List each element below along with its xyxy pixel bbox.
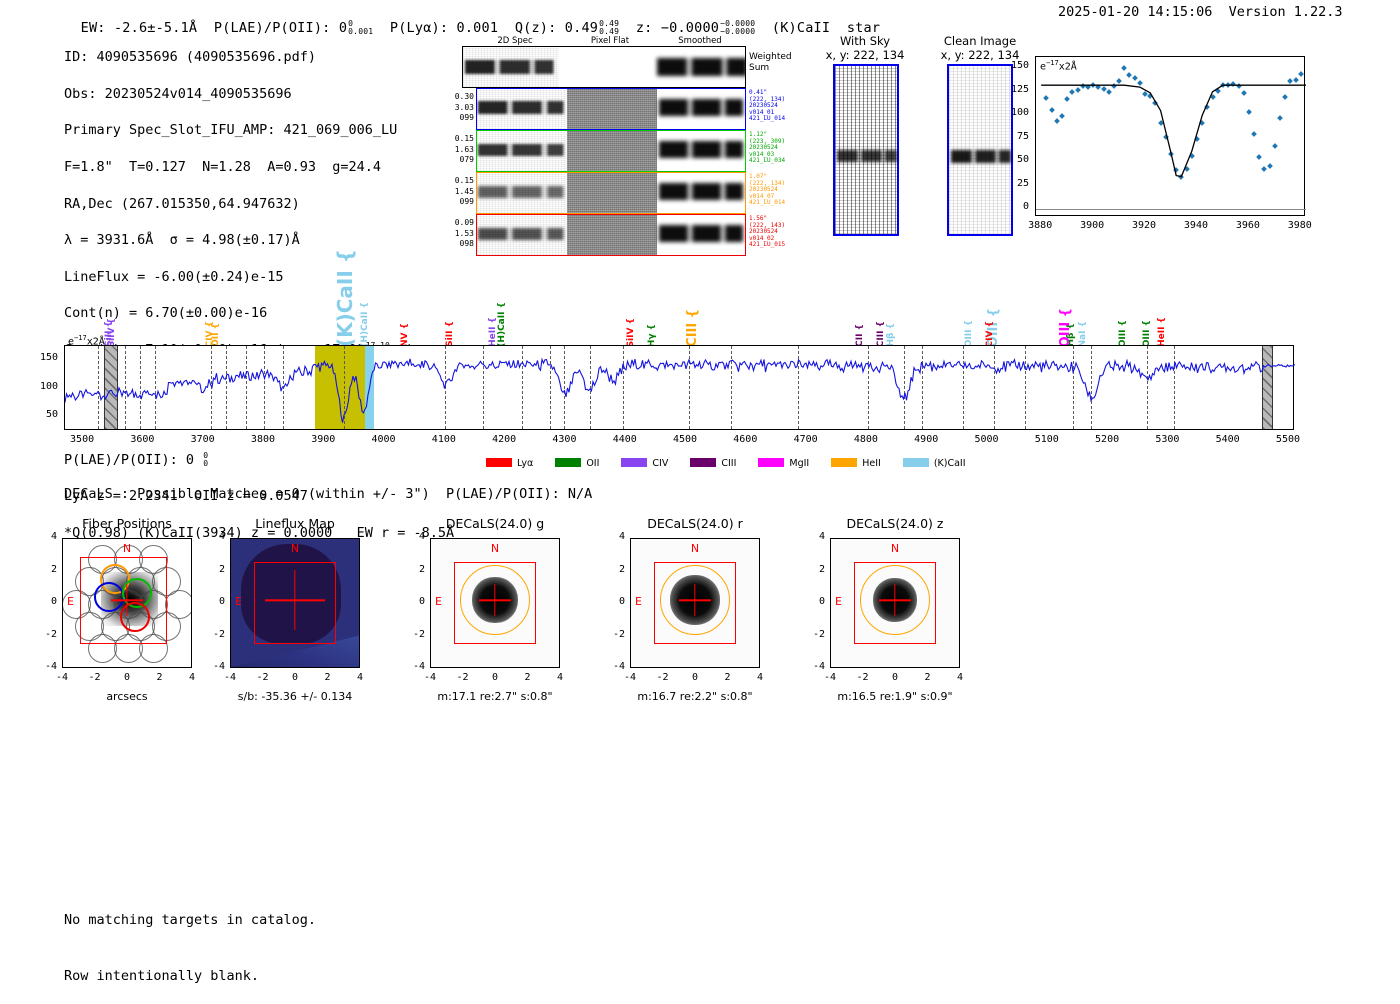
x-tick-label: 5400: [1202, 434, 1254, 445]
emission-line-label: CII {: [855, 324, 865, 347]
x-tick-label: 2: [512, 672, 544, 683]
spectrum-flux-curve: [65, 346, 1295, 431]
info-line-obs: Obs: 20230524v014_4090535696: [64, 85, 454, 103]
x-tick-label: 3800: [237, 434, 289, 445]
cutout-weighted-sum-row: [462, 46, 746, 88]
info-line-primary-spec: Primary Spec_Slot_IFU_AMP: 421_069_006_L…: [64, 121, 454, 139]
y-tick-label: -2: [798, 629, 825, 640]
y-tick-label: -2: [398, 629, 425, 640]
legend-swatch: [621, 458, 647, 467]
decals-panel-caption: m:17.1 re:2.7" s:0.8": [395, 690, 595, 703]
emission-line-label: CIV {: [985, 321, 995, 347]
info-line-lambda: λ = 3931.6Å σ = 4.98(±0.17)Å: [64, 231, 454, 249]
legend-swatch: [903, 458, 929, 467]
y-tick-label: -4: [30, 661, 57, 672]
x-tick-label: 5300: [1141, 434, 1193, 445]
x-tick-label: -2: [647, 672, 679, 683]
crosshair-vertical: [494, 584, 495, 616]
cutout-row-3-sidelabel: 1.56" (222, 143) 20230524 v014_02 421_LU…: [749, 216, 785, 249]
x-tick-label: 4300: [538, 434, 590, 445]
legend-label: HeII: [862, 458, 881, 469]
footer-messages: No matching targets in catalog. Row inte…: [64, 874, 316, 1004]
x-tick-label: 3500: [56, 434, 108, 445]
emission-line-label: SiII {: [445, 321, 455, 347]
legend-swatch: [690, 458, 716, 467]
y-tick-label: 75: [995, 131, 1029, 142]
x-tick-label: 4200: [478, 434, 530, 445]
decals-panel-axes[interactable]: NE: [630, 538, 760, 668]
y-tick-label: -4: [798, 661, 825, 672]
x-tick-label: 5100: [1021, 434, 1073, 445]
x-tick-label: 5000: [961, 434, 1013, 445]
header-qz-label: Q(z):: [515, 20, 557, 36]
legend-label: MgII: [789, 458, 809, 469]
legend-label: (K)CaII: [934, 458, 966, 469]
spectrum-units: e−17x2Å: [68, 334, 105, 347]
info-line-plae: P(LAE)/P(OII): 0 00: [64, 451, 454, 469]
x-tick-label: 4100: [418, 434, 470, 445]
compass-north: N: [123, 542, 131, 555]
emission-line-label: (H)CaII {: [360, 302, 370, 347]
emission-line-label: SiII {: [104, 321, 114, 347]
emission-line-label: (H)CaII {: [497, 302, 507, 347]
y-tick-label: -4: [598, 661, 625, 672]
spectrum-emission-labels: SiIV {SiII {CIV {OII {(K)CaII {(H)CaII {…: [64, 262, 1294, 347]
x-tick-label: 3980: [1276, 220, 1324, 231]
x-tick-label: 4: [744, 672, 776, 683]
info-line-radec: RA,Dec (267.015350,64.947632): [64, 195, 454, 213]
compass-east: E: [435, 595, 442, 608]
x-tick-label: -4: [814, 672, 846, 683]
y-tick-label: 2: [598, 564, 625, 575]
x-tick-label: 4600: [719, 434, 771, 445]
weighted-sum-label: Weighted Sum: [749, 52, 792, 74]
compass-north: N: [291, 542, 299, 555]
emission-line-label: Hβ {: [886, 323, 896, 347]
y-tick-label: 0: [598, 596, 625, 607]
y-tick-label: 50: [22, 409, 58, 420]
footer-line-1: No matching targets in catalog.: [64, 911, 316, 930]
decals-panel-row: Fiber PositionsNE-4-4-2-2002244arcsecsLi…: [0, 510, 1400, 720]
with-sky-image: [833, 64, 899, 236]
x-tick-label: 3900: [297, 434, 349, 445]
y-tick-label: 2: [198, 564, 225, 575]
footer-line-2: Row intentionally blank.: [64, 967, 316, 986]
legend-swatch: [831, 458, 857, 467]
header-z-label: z:: [636, 20, 653, 36]
legend-item: (K)CaII: [903, 458, 966, 469]
y-tick-label: 25: [995, 178, 1029, 189]
legend-label: CIII: [721, 458, 736, 469]
emission-line-label: CIII {: [685, 309, 700, 347]
x-tick-label: 4: [944, 672, 976, 683]
y-tick-label: 4: [30, 531, 57, 542]
emission-line-label: NaI {: [1078, 321, 1088, 348]
emission-line-label: OIII {: [1142, 320, 1152, 347]
x-tick-label: 3880: [1016, 220, 1064, 231]
y-tick-label: 50: [995, 154, 1029, 165]
legend-swatch: [486, 458, 512, 467]
y-tick-label: 0: [995, 201, 1029, 212]
legend-label: OII: [586, 458, 599, 469]
crosshair-vertical: [894, 584, 895, 616]
compass-north: N: [491, 542, 499, 555]
x-tick-label: 0: [679, 672, 711, 683]
decals-panel-title: Fiber Positions: [44, 516, 210, 531]
x-tick-label: -2: [247, 672, 279, 683]
info-line-id: ID: 4090535696 (4090535696.pdf): [64, 48, 454, 66]
x-tick-label: -2: [447, 672, 479, 683]
cutout-row-1-leftlabel: 0.15 1.63 079: [440, 134, 474, 166]
x-tick-label: 4: [344, 672, 376, 683]
legend-item: HeII: [831, 458, 881, 469]
legend-item: OII: [555, 458, 599, 469]
x-tick-label: 4400: [599, 434, 651, 445]
header-qz-lo: 0.49: [599, 27, 619, 36]
y-tick-label: -4: [198, 661, 225, 672]
y-tick-label: -4: [398, 661, 425, 672]
x-tick-label: 4700: [780, 434, 832, 445]
x-tick-label: -4: [46, 672, 78, 683]
decals-panel-title: Lineflux Map: [212, 516, 378, 531]
y-tick-label: 2: [30, 564, 57, 575]
header-plya-value: 0.001: [457, 20, 499, 36]
x-tick-label: 4800: [840, 434, 892, 445]
y-tick-label: 0: [798, 596, 825, 607]
x-tick-label: 3960: [1224, 220, 1272, 231]
decals-panel-axes[interactable]: NE: [830, 538, 960, 668]
x-tick-label: 4500: [659, 434, 711, 445]
x-tick-label: -4: [414, 672, 446, 683]
compass-east: E: [635, 595, 642, 608]
legend-item: CIV: [621, 458, 668, 469]
decals-panel-caption: s/b: -35.36 +/- 0.134: [195, 690, 395, 703]
crosshair-vertical: [694, 584, 695, 616]
compass-north: N: [691, 542, 699, 555]
x-tick-label: 4900: [900, 434, 952, 445]
cutout-row-2-leftlabel: 0.15 1.45 099: [440, 176, 474, 208]
y-tick-label: 0: [398, 596, 425, 607]
x-tick-label: 0: [279, 672, 311, 683]
x-tick-label: 3920: [1120, 220, 1168, 231]
y-tick-label: -2: [30, 629, 57, 640]
cutout-col-title-smoothed: Smoothed: [655, 36, 745, 46]
full-spectrum-plot: e−17x2Å: [64, 345, 1294, 430]
info-plae-label: P(LAE)/P(OII): 0: [64, 452, 194, 468]
info-plae-lo: 0: [203, 459, 208, 468]
y-tick-label: 2: [798, 564, 825, 575]
decals-panel-title: DECaLS(24.0) r: [612, 516, 778, 531]
legend-swatch: [758, 458, 784, 467]
emission-line-label: Hγ {: [647, 324, 657, 347]
legend-label: Lyα: [517, 458, 533, 469]
legend-item: MgII: [758, 458, 809, 469]
emission-line-label: HeII {: [1157, 317, 1167, 347]
cutout-row-2: [476, 172, 746, 214]
compass-east: E: [67, 595, 74, 608]
emission-line-label: (K)CaII {: [333, 249, 357, 347]
cutout-row-2-sidelabel: 1.07" (222, 134) 20230524 v014_07 421_LU…: [749, 174, 785, 207]
decals-panel-caption: m:16.7 re:2.2" s:0.8": [595, 690, 795, 703]
decals-panel-title: DECaLS(24.0) g: [412, 516, 578, 531]
info-line-fwhm: F=1.8" T=0.127 N=1.28 A=0.93 g=24.4: [64, 158, 454, 176]
x-tick-label: 2: [312, 672, 344, 683]
x-tick-label: 5500: [1262, 434, 1314, 445]
x-tick-label: -2: [79, 672, 111, 683]
x-tick-label: 5200: [1081, 434, 1133, 445]
crosshair-vertical: [294, 570, 295, 630]
decals-panel-caption: m:16.5 re:1.9" s:0.9": [795, 690, 995, 703]
legend-label: CIV: [652, 458, 668, 469]
x-tick-label: 3700: [177, 434, 229, 445]
x-tick-label: -4: [214, 672, 246, 683]
header-z-value: −0.0000: [661, 20, 719, 36]
with-sky-coords: x, y: 222, 134: [812, 48, 918, 62]
cutout-row-3: [476, 214, 746, 256]
cutout-row-3-leftlabel: 0.09 1.53 098: [440, 218, 474, 250]
decals-panel-title: DECaLS(24.0) z: [812, 516, 978, 531]
line-profile-plot: e−17x2Å: [1035, 56, 1305, 216]
emission-line-label: OII {: [211, 323, 221, 347]
timestamp-version: 2025-01-20 14:15:06 Version 1.22.3: [1058, 4, 1342, 20]
cutout-row-1: [476, 130, 746, 172]
y-tick-label: 100: [995, 107, 1029, 118]
x-tick-label: 3600: [116, 434, 168, 445]
x-tick-label: -4: [614, 672, 646, 683]
y-tick-label: 0: [30, 596, 57, 607]
x-tick-label: 0: [111, 672, 143, 683]
legend-item: Lyα: [486, 458, 533, 469]
decals-panel-axes[interactable]: NE: [62, 538, 192, 668]
x-tick-label: 0: [879, 672, 911, 683]
cutout-row-0-sidelabel: 0.41" (222, 134) 20230524 v014_01 421_LU…: [749, 90, 785, 123]
x-tick-label: 4000: [358, 434, 410, 445]
y-tick-label: -2: [598, 629, 625, 640]
decals-panel-axes[interactable]: NE: [230, 538, 360, 668]
compass-north: N: [891, 542, 899, 555]
x-tick-label: 2: [144, 672, 176, 683]
y-tick-label: 150: [22, 352, 58, 363]
x-tick-label: 0: [479, 672, 511, 683]
cutout-row-1-sidelabel: 1.12" (223, 309) 20230524 v014_03 421_LU…: [749, 132, 785, 165]
header-z-lo: −0.0000: [720, 27, 755, 36]
cutout-col-title-pixelflat: Pixel Flat: [565, 36, 655, 46]
with-sky-title: With Sky: [812, 34, 918, 48]
x-tick-label: 3900: [1068, 220, 1116, 231]
y-tick-label: -2: [198, 629, 225, 640]
y-tick-label: 2: [398, 564, 425, 575]
legend-swatch: [555, 458, 581, 467]
y-tick-label: 4: [798, 531, 825, 542]
legend-item: CIII: [690, 458, 736, 469]
y-tick-label: 4: [198, 531, 225, 542]
emission-line-label: OIII {: [1118, 320, 1128, 347]
compass-east: E: [835, 595, 842, 608]
y-tick-label: 4: [598, 531, 625, 542]
cutout-col-title-2dspec: 2D Spec: [470, 36, 560, 46]
decals-panel-axes[interactable]: NE: [430, 538, 560, 668]
cutout-row-0-leftlabel: 0.30 3.03 099: [440, 92, 474, 124]
x-tick-label: 3940: [1172, 220, 1220, 231]
emission-line-label: CIII {: [876, 321, 886, 347]
decals-heading: DECaLS : Possible Matches = 0 (within +/…: [64, 486, 592, 502]
clean-image-title: Clean Image: [925, 34, 1035, 48]
y-tick-label: 0: [198, 596, 225, 607]
x-tick-label: 2: [912, 672, 944, 683]
y-tick-label: 125: [995, 84, 1029, 95]
spectrum-legend: LyαOIICIVCIIIMgIIHeII(K)CaII: [486, 451, 988, 470]
y-tick-label: 4: [398, 531, 425, 542]
header-qz-value: 0.49: [565, 20, 598, 36]
line-profile-fit-curve: [1036, 57, 1306, 217]
cutout-row-0: [476, 88, 746, 130]
y-tick-label: 150: [995, 60, 1029, 71]
emission-line-label: NV {: [400, 323, 410, 347]
emission-line-label: OIII {: [964, 320, 974, 347]
y-tick-label: 100: [22, 381, 58, 392]
x-tick-label: 2: [712, 672, 744, 683]
emission-line-label: SiIV {: [626, 318, 636, 347]
compass-east: E: [235, 595, 242, 608]
crosshair-vertical: [126, 584, 127, 616]
x-tick-label: 4: [544, 672, 576, 683]
emission-line-label: OIII {: [1058, 308, 1073, 347]
x-tick-label: -2: [847, 672, 879, 683]
x-tick-label: 4: [176, 672, 208, 683]
